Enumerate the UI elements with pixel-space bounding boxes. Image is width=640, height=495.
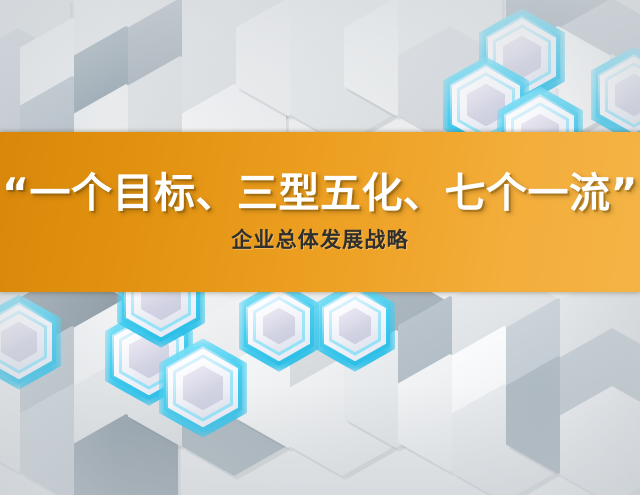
- slide-subtitle: 企业总体发展战略: [231, 229, 409, 252]
- title-banner-content: “一个目标、三型五化、七个一流” 企业总体发展战略: [0, 132, 640, 292]
- slide-canvas: “一个目标、三型五化、七个一流” 企业总体发展战略: [0, 0, 640, 495]
- title-banner: “一个目标、三型五化、七个一流” 企业总体发展战略: [0, 132, 640, 292]
- glowing-hexagon: [244, 286, 314, 366]
- glowing-hexagon: [164, 344, 242, 432]
- glowing-hexagon: [0, 300, 56, 384]
- glowing-hexagon: [320, 286, 390, 366]
- glowing-hexagon: [596, 52, 640, 138]
- slide-title: “一个目标、三型五化、七个一流”: [2, 172, 638, 215]
